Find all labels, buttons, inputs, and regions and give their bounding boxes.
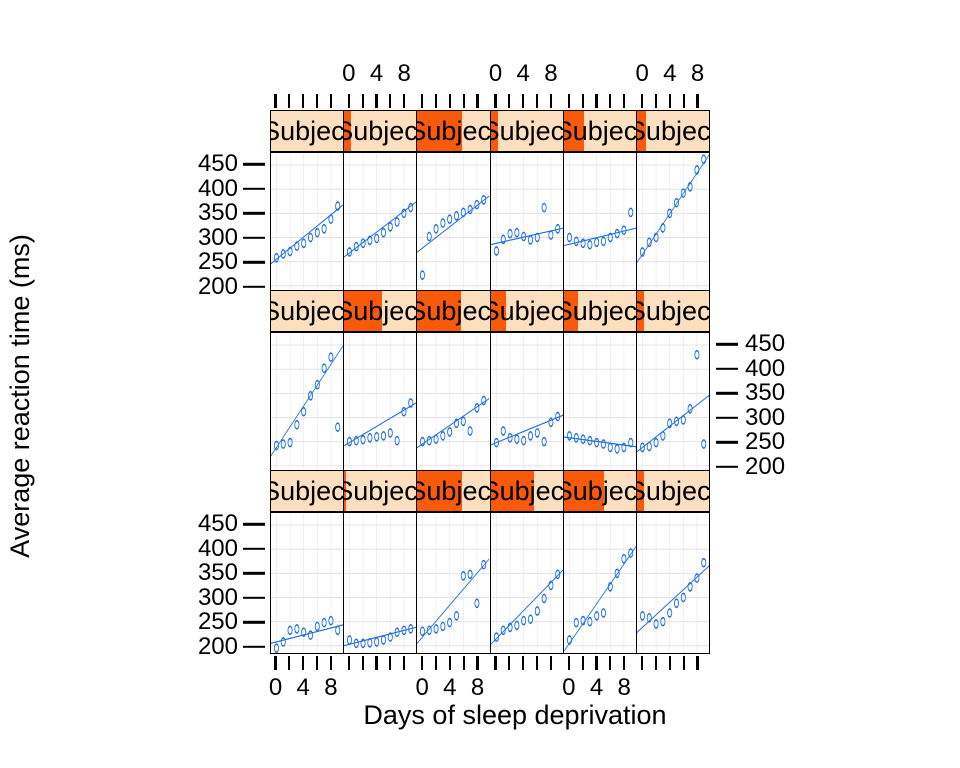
y-tick-mark [716,416,738,418]
strip-label: Subject [491,478,564,505]
strip-header-subject-3: Subject [417,111,490,151]
y-tick-mark [716,368,738,370]
strip-header-subject-16: Subject [491,471,564,511]
y-tick-label: 200 [745,455,785,479]
x-tick-label: 8 [471,676,484,700]
panel-subject-9 [417,333,490,473]
y-tick-mark [716,392,738,394]
y-tick-mark [243,621,265,623]
strip-label: Subject [344,298,417,325]
y-axis-tick-labels-left: 200250300350400450 [196,152,268,294]
strip-header-subject-17: Subject [564,471,637,511]
strip-label: Subject [637,118,709,145]
panel-subject-10 [491,333,564,473]
strip-label: Subject [271,118,344,145]
y-tick-mark [243,188,265,190]
strip-label: Subject [491,298,564,325]
panel-subject-8 [344,333,417,473]
y-tick-label: 350 [198,561,238,585]
strip-header-subject-14: Subject [344,471,417,511]
strip-label: Subject [344,118,417,145]
strip-label: Subject [271,478,344,505]
x-axis-tick-labels: 048048048 [270,62,710,92]
strip-label: Subject [491,118,564,145]
strip-label: Subject [637,298,709,325]
strip-header-subject-7: Subject [271,291,344,331]
panel-subject-15 [417,513,490,653]
y-tick-mark [716,441,738,443]
strip-header-subject-18: Subject [637,471,709,511]
x-tick-label: 8 [618,676,631,700]
y-tick-label: 450 [198,512,238,536]
panel-subject-16 [491,513,564,653]
panel-plot-8 [344,333,416,473]
panel-subject-13 [271,513,344,653]
y-axis-tick-labels-right: 200250300350400450 [712,332,784,474]
panel-plot-13 [271,513,343,653]
x-tick-label: 0 [562,676,575,700]
x-tick-label: 8 [398,62,411,86]
y-tick-label: 350 [198,201,238,225]
y-tick-mark [716,465,738,467]
strip-header-subject-13: Subject [271,471,344,511]
panel-plot-2 [344,153,416,293]
y-axis-title: Average reaction time (ms) [0,0,40,768]
x-tick-label: 0 [416,676,429,700]
panel-plot-18 [637,513,709,653]
y-tick-label: 400 [198,537,238,561]
panel-plot-6 [637,153,709,293]
panel-subject-18 [637,513,709,653]
y-tick-mark [716,343,738,345]
x-tick-label: 4 [297,676,310,700]
panel-plot-11 [564,333,636,473]
panel-subject-17 [564,513,637,653]
panel-plot-7 [271,333,343,473]
panel-plot-17 [564,513,636,653]
strip-label: Subject [564,478,637,505]
y-tick-mark [243,285,265,287]
panel-plot-9 [417,333,489,473]
y-tick-label: 450 [198,152,238,176]
x-tick-label: 0 [636,62,649,86]
panel-subject-2 [344,153,417,293]
strip-header-subject-12: Subject [637,291,709,331]
x-tick-label: 0 [489,62,502,86]
strip-row-3: SubjectSubjectSubjectSubjectSubjectSubje… [270,470,710,512]
strip-header-subject-15: Subject [417,471,490,511]
y-tick-label: 300 [198,586,238,610]
y-tick-mark [243,261,265,263]
y-tick-mark [243,163,265,165]
panel-plot-5 [564,153,636,293]
panel-plot-10 [491,333,563,473]
y-tick-label: 450 [745,332,785,356]
y-tick-label: 250 [198,610,238,634]
x-tick-label: 4 [443,676,456,700]
panel-grid: 048048048SubjectSubjectSubjectSubjectSub… [270,110,710,640]
panel-subject-3 [417,153,490,293]
strip-header-subject-4: Subject [491,111,564,151]
strip-header-subject-8: Subject [344,291,417,331]
panel-plot-12 [637,333,709,473]
strip-row-1: SubjectSubjectSubjectSubjectSubjectSubje… [270,110,710,152]
y-tick-label: 200 [198,275,238,299]
panel-row-2 [270,332,710,474]
x-tick-label: 4 [517,62,530,86]
strip-header-subject-6: Subject [637,111,709,151]
x-axis-tick-labels: 048048048 [270,676,710,706]
panel-subject-4 [491,153,564,293]
panel-subject-6 [637,153,709,293]
panel-row-3 [270,512,710,654]
x-tick-label: 0 [269,676,282,700]
strip-header-subject-10: Subject [491,291,564,331]
y-tick-mark [243,645,265,647]
strip-label: Subject [417,478,490,505]
sleepstudy-trellis-figure: Average reaction time (ms) Days of sleep… [0,0,960,768]
panel-subject-11 [564,333,637,473]
strip-label: Subject [271,298,344,325]
y-tick-mark [243,596,265,598]
panel-plot-4 [491,153,563,293]
y-tick-label: 200 [198,635,238,659]
y-tick-mark [243,236,265,238]
y-tick-mark [243,212,265,214]
y-tick-label: 300 [745,406,785,430]
y-tick-label: 400 [745,357,785,381]
x-tick-label: 8 [544,62,557,86]
panel-subject-1 [271,153,344,293]
strip-label: Subject [344,478,417,505]
panel-plot-14 [344,513,416,653]
y-tick-mark [243,572,265,574]
panel-plot-16 [491,513,563,653]
strip-header-subject-11: Subject [564,291,637,331]
y-tick-label: 250 [745,430,785,454]
panel-plot-3 [417,153,489,293]
strip-header-subject-2: Subject [344,111,417,151]
x-tick-label: 4 [663,62,676,86]
strip-header-subject-9: Subject [417,291,490,331]
y-axis-title-text: Average reaction time (ms) [5,234,36,558]
panel-subject-14 [344,513,417,653]
strip-label: Subject [417,118,490,145]
x-axis-tick-rail-top [270,94,710,108]
x-tick-label: 8 [691,62,704,86]
y-axis-tick-labels-left: 200250300350400450 [196,512,268,654]
y-tick-label: 350 [745,381,785,405]
strip-header-subject-5: Subject [564,111,637,151]
panel-plot-1 [271,153,343,293]
strip-header-subject-1: Subject [271,111,344,151]
x-axis-tick-rail-bottom [270,656,710,670]
strip-row-2: SubjectSubjectSubjectSubjectSubjectSubje… [270,290,710,332]
strip-label: Subject [564,298,637,325]
panel-row-1 [270,152,710,294]
y-tick-label: 250 [198,250,238,274]
y-tick-mark [243,523,265,525]
panel-subject-5 [564,153,637,293]
panel-subject-7 [271,333,344,473]
y-tick-label: 400 [198,177,238,201]
strip-label: Subject [417,298,490,325]
strip-label: Subject [637,478,709,505]
panel-plot-15 [417,513,489,653]
x-tick-label: 8 [324,676,337,700]
panel-subject-12 [637,333,709,473]
x-tick-label: 4 [370,62,383,86]
y-tick-label: 300 [198,226,238,250]
x-tick-label: 0 [342,62,355,86]
x-tick-label: 4 [590,676,603,700]
strip-label: Subject [564,118,637,145]
y-tick-mark [243,548,265,550]
